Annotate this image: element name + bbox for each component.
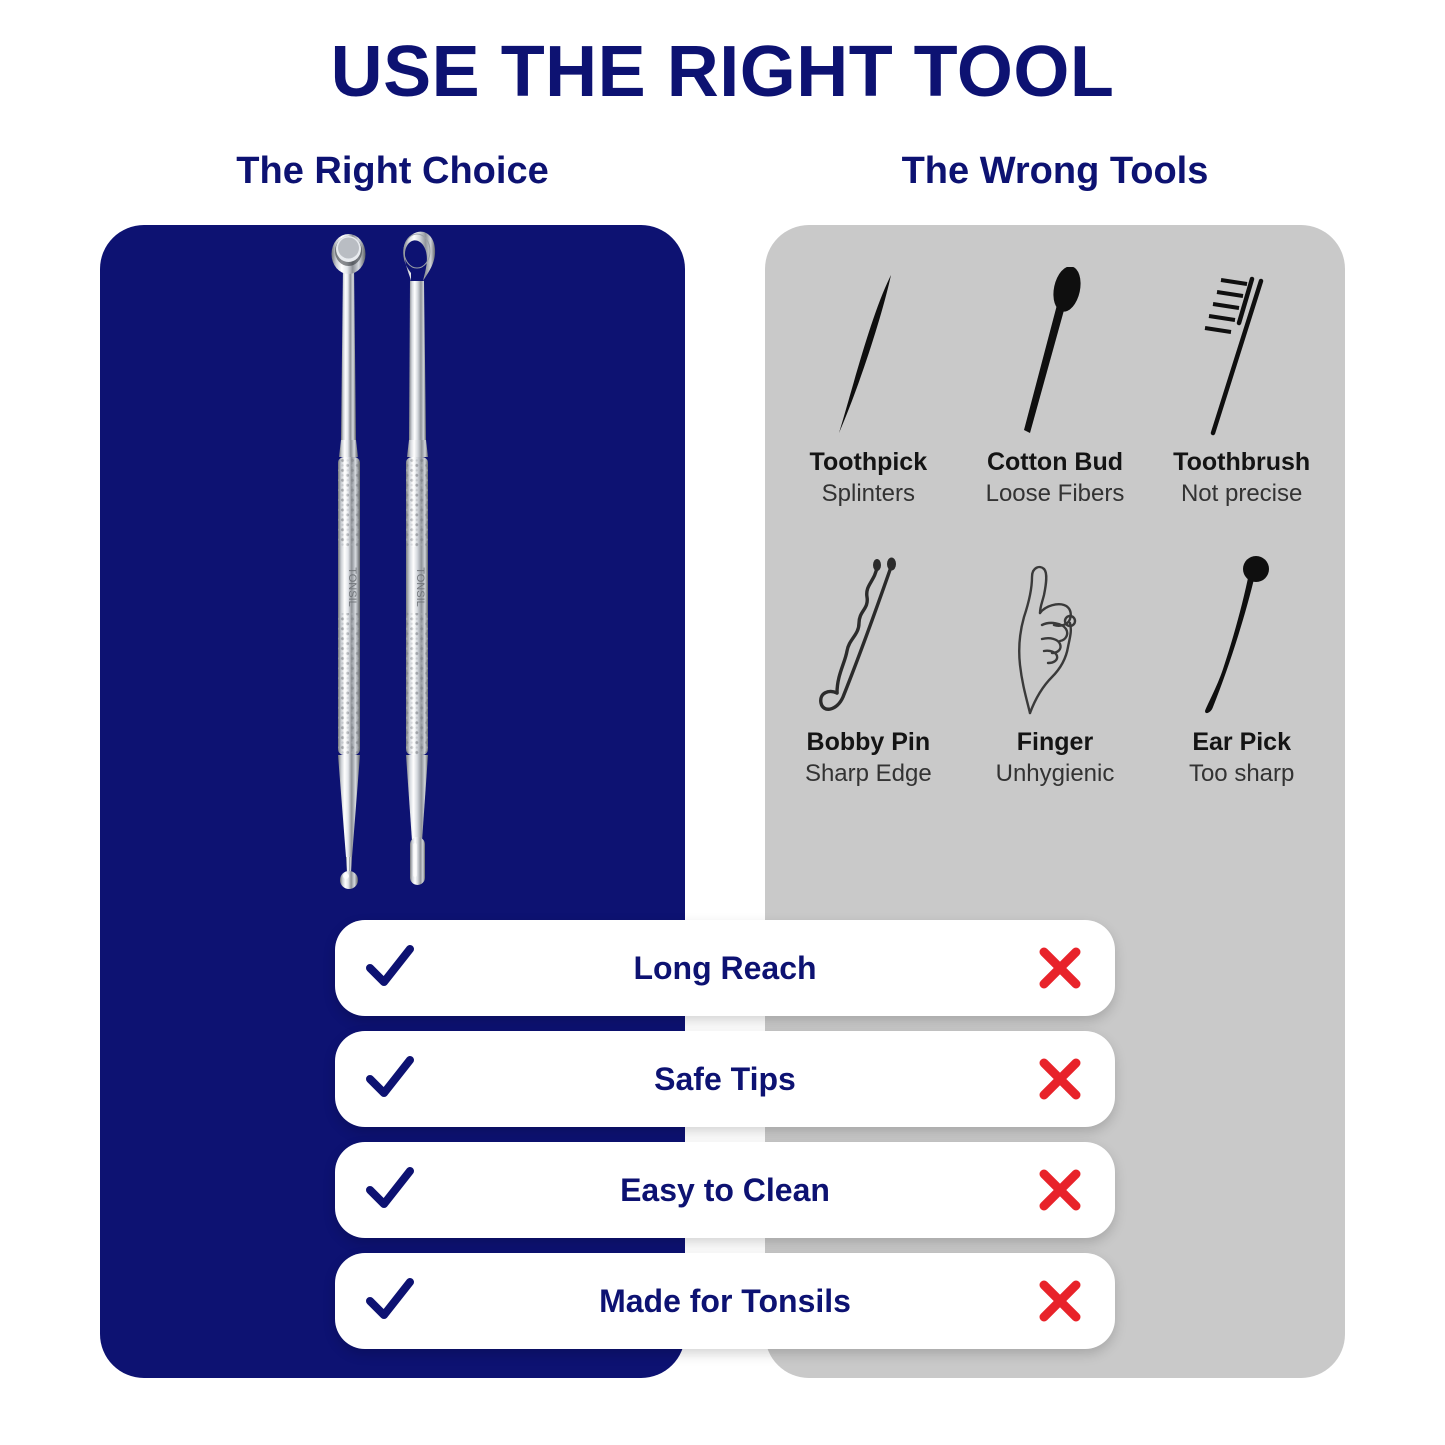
cross-icon (1005, 1056, 1115, 1102)
wrong-tool-name: Toothbrush (1173, 449, 1310, 475)
wrong-tools-grid: Toothpick Splinters Cotton Bud Loose Fib… (775, 262, 1335, 822)
wrong-tool-name: Finger (1017, 729, 1093, 755)
wrong-tool-reason: Unhygienic (996, 760, 1115, 788)
wrong-tool-reason: Too sharp (1189, 760, 1294, 788)
spoon-scoop-tool: TONSIL (332, 234, 366, 889)
check-icon (335, 1274, 445, 1328)
wrong-tool-reason: Sharp Edge (805, 760, 932, 788)
wrong-tool-name: Cotton Bud (987, 449, 1123, 475)
ear-pick-icon (1187, 542, 1297, 727)
cross-icon (1005, 1278, 1115, 1324)
wrong-tool-item: Cotton Bud Loose Fibers (962, 262, 1149, 542)
cotton-bud-icon (1000, 262, 1110, 447)
tools-svg: TONSIL TONSIL (100, 225, 685, 925)
svg-text:TONSIL: TONSIL (346, 567, 358, 607)
wrong-tool-reason: Not precise (1181, 480, 1302, 508)
finger-icon (1000, 542, 1110, 727)
feature-label: Long Reach (445, 952, 1005, 984)
wrong-tool-reason: Loose Fibers (986, 480, 1125, 508)
infographic-root: USE THE RIGHT TOOL The Right Choice The … (0, 0, 1445, 1445)
wrong-tool-name: Bobby Pin (807, 729, 931, 755)
wrong-tool-name: Ear Pick (1192, 729, 1291, 755)
wrong-tool-item: Finger Unhygienic (962, 542, 1149, 822)
left-column-heading: The Right Choice (100, 152, 685, 190)
check-icon (335, 941, 445, 995)
feature-pill[interactable]: Long Reach (335, 920, 1115, 1016)
wrong-tool-name: Toothpick (810, 449, 928, 475)
wrong-tool-item: Toothpick Splinters (775, 262, 962, 542)
check-icon (335, 1163, 445, 1217)
feature-pill[interactable]: Safe Tips (335, 1031, 1115, 1127)
feature-label: Easy to Clean (445, 1174, 1005, 1206)
page-title: USE THE RIGHT TOOL (0, 36, 1445, 108)
feature-pill[interactable]: Easy to Clean (335, 1142, 1115, 1238)
wrong-tool-item: Ear Pick Too sharp (1148, 542, 1335, 822)
bobby-pin-icon (813, 542, 923, 727)
cross-icon (1005, 1167, 1115, 1213)
feature-label: Safe Tips (445, 1063, 1005, 1095)
feature-pill[interactable]: Made for Tonsils (335, 1253, 1115, 1349)
toothpick-icon (813, 262, 923, 447)
cross-icon (1005, 945, 1115, 991)
feature-label: Made for Tonsils (445, 1285, 1005, 1317)
check-icon (335, 1052, 445, 1106)
product-tools-illustration: TONSIL TONSIL (100, 225, 685, 925)
wrong-tool-item: Toothbrush Not precise (1148, 262, 1335, 542)
right-column-heading: The Wrong Tools (765, 152, 1345, 190)
wrong-tool-reason: Splinters (822, 480, 915, 508)
toothbrush-icon (1187, 262, 1297, 447)
svg-text:TONSIL: TONSIL (414, 567, 426, 607)
loop-extractor-tool: TONSIL (403, 232, 435, 885)
wrong-tool-item: Bobby Pin Sharp Edge (775, 542, 962, 822)
